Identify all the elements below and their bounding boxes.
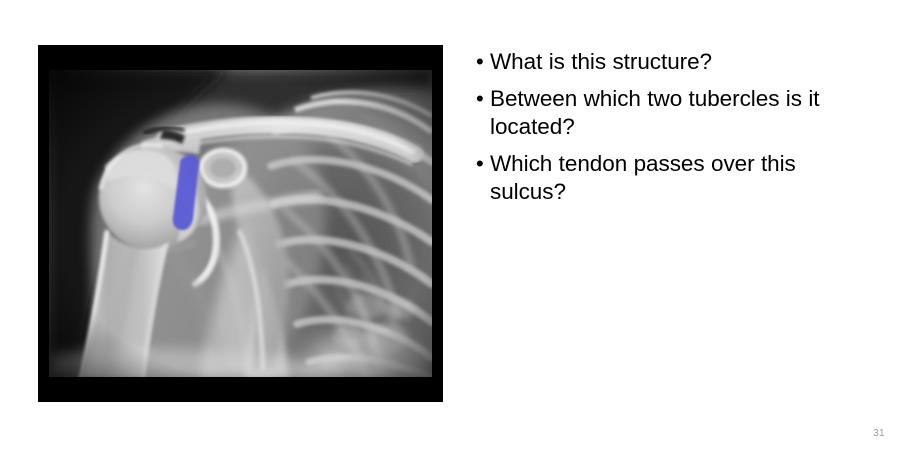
slide-title: (Bicipital groove)	[0, 0, 909, 10]
bullet-icon: •	[476, 150, 490, 178]
bullet-icon: •	[476, 85, 490, 113]
bullet-text: Between which two tubercles is it locate…	[490, 85, 876, 141]
slide-canvas: (Bicipital groove)	[0, 0, 909, 453]
bullet-icon: •	[476, 48, 490, 76]
bullet-text: Which tendon passes over this sulcus?	[490, 150, 876, 206]
bullet-text: What is this structure?	[490, 48, 876, 76]
xray-image	[49, 70, 432, 377]
list-item: • Between which two tubercles is it loca…	[476, 85, 876, 141]
list-item: • Which tendon passes over this sulcus?	[476, 150, 876, 206]
slide-number: 31	[873, 428, 885, 439]
question-bullet-list: • What is this structure? • Between whic…	[476, 48, 876, 215]
xray-figure[interactable]	[38, 45, 443, 402]
list-item: • What is this structure?	[476, 48, 876, 76]
xray-radiograph-graphic	[49, 70, 432, 377]
